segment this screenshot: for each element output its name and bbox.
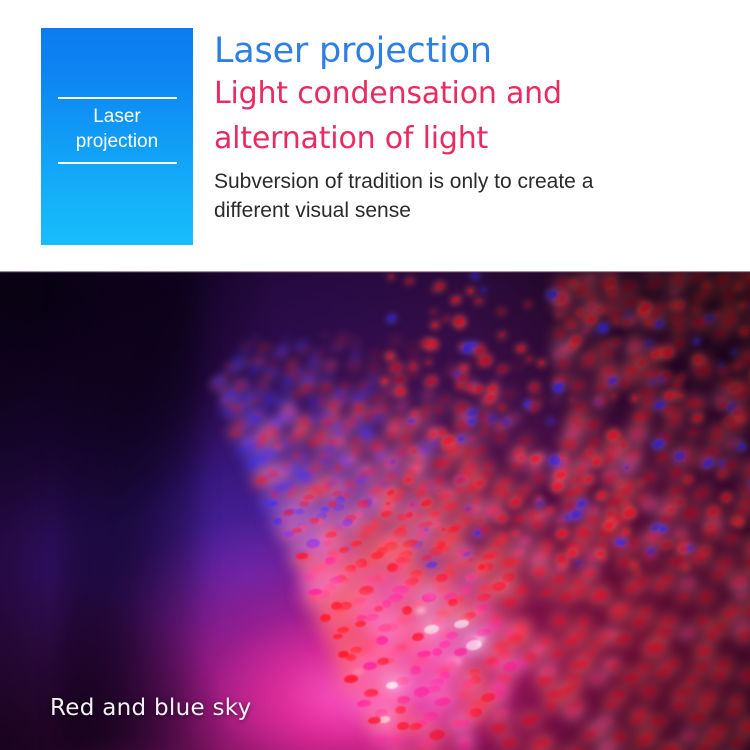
laser-dot — [720, 315, 738, 329]
laser-dot — [457, 558, 468, 568]
laser-dot — [325, 556, 337, 565]
laser-dot — [497, 364, 508, 373]
laser-dot — [481, 416, 494, 427]
laser-dot — [555, 471, 566, 480]
laser-dot — [538, 360, 544, 365]
laser-dot — [604, 701, 618, 711]
laser-dot — [482, 552, 495, 561]
laser-dot — [464, 572, 479, 583]
laser-dot — [570, 280, 577, 286]
laser-dot — [570, 379, 586, 392]
laser-dot — [389, 736, 403, 745]
laser-dot — [431, 309, 438, 315]
laser-dot — [423, 624, 439, 635]
laser-dot — [461, 678, 475, 690]
laser-dot — [268, 370, 277, 377]
laser-dot — [668, 555, 688, 569]
laser-dot — [312, 462, 321, 469]
laser-dot — [593, 395, 609, 408]
laser-dot — [614, 632, 632, 646]
laser-dot — [387, 489, 396, 497]
laser-dot — [534, 509, 548, 520]
laser-dot — [698, 645, 712, 657]
laser-dot — [355, 646, 372, 656]
laser-dot — [320, 477, 334, 488]
laser-dot — [556, 312, 562, 317]
laser-dot — [635, 569, 640, 573]
laser-dot — [458, 688, 472, 699]
laser-dot — [614, 488, 631, 500]
laser-dot — [600, 302, 614, 314]
laser-dot — [604, 468, 620, 481]
laser-dot — [454, 402, 469, 414]
laser-dot — [555, 378, 562, 384]
laser-dot — [281, 334, 290, 342]
photo-caption: Red and blue sky — [50, 694, 252, 722]
laser-dot — [386, 681, 399, 689]
laser-dot — [448, 598, 459, 607]
laser-dot — [442, 440, 452, 450]
laser-dot — [598, 714, 614, 728]
laser-dot — [228, 431, 235, 436]
laser-dot — [441, 503, 452, 511]
laser-dot — [561, 454, 566, 459]
laser-dot — [329, 401, 339, 410]
laser-dot — [294, 430, 305, 438]
laser-dot — [396, 640, 412, 650]
laser-dot — [338, 601, 353, 611]
laser-dot — [426, 340, 438, 350]
laser-dot — [482, 461, 494, 470]
laser-dot — [636, 414, 644, 421]
laser-dot — [388, 354, 394, 359]
laser-dot — [445, 655, 463, 667]
laser-dot — [315, 430, 327, 440]
laser-dot — [260, 453, 268, 460]
laser-dot — [743, 606, 750, 620]
laser-dot — [345, 600, 359, 608]
laser-dot — [574, 544, 588, 555]
laser-dot — [458, 470, 472, 481]
laser-dot — [527, 462, 541, 472]
laser-dot — [235, 381, 247, 389]
laser-dot — [645, 528, 665, 544]
laser-dot — [553, 286, 569, 299]
laser-dot — [428, 375, 439, 383]
laser-dot — [660, 347, 674, 360]
laser-dot — [238, 340, 249, 349]
laser-dot — [613, 533, 624, 543]
laser-dot — [344, 674, 359, 683]
laser-dot — [307, 438, 321, 447]
laser-dot — [513, 659, 527, 669]
laser-dot — [249, 358, 259, 365]
laser-dot — [584, 504, 600, 517]
laser-dot — [606, 495, 623, 509]
laser-dot — [335, 495, 346, 504]
laser-dot — [556, 515, 568, 525]
laser-dot — [371, 497, 381, 504]
laser-dot — [730, 736, 746, 748]
laser-dot — [466, 384, 474, 391]
laser-dot — [297, 471, 308, 480]
laser-dot — [539, 665, 557, 679]
laser-dot — [579, 325, 592, 336]
laser-dot — [255, 476, 266, 484]
laser-dot — [618, 556, 632, 568]
laser-dot — [604, 366, 618, 379]
laser-dot — [599, 364, 614, 377]
laser-dot — [454, 647, 468, 657]
laser-dot — [563, 315, 576, 327]
laser-dot — [451, 442, 463, 453]
laser-dot — [257, 477, 268, 483]
laser-dot — [384, 493, 399, 503]
laser-dot — [604, 521, 614, 530]
laser-dot — [283, 508, 294, 515]
laser-dot — [711, 669, 727, 682]
laser-dot — [389, 459, 396, 465]
laser-dot — [552, 345, 569, 359]
laser-dot — [469, 675, 482, 685]
laser-dot — [357, 381, 368, 390]
laser-dot — [293, 428, 305, 437]
laser-dot — [339, 491, 351, 500]
laser-dot — [288, 361, 296, 367]
laser-dot — [568, 343, 576, 349]
laser-dot — [630, 575, 650, 589]
laser-dot — [509, 498, 521, 508]
laser-dot — [401, 605, 412, 615]
laser-dot — [594, 540, 608, 550]
laser-dot — [329, 576, 344, 585]
laser-dot — [310, 567, 321, 576]
laser-dot — [258, 432, 268, 440]
laser-dot — [652, 439, 664, 449]
laser-dot — [231, 366, 239, 372]
laser-dot — [393, 584, 409, 594]
laser-dot — [354, 621, 365, 628]
laser-dot — [272, 484, 285, 493]
laser-dot — [729, 573, 750, 589]
laser-dot — [641, 684, 658, 698]
laser-dot — [552, 614, 566, 626]
laser-dot — [449, 523, 462, 532]
laser-dot — [600, 452, 618, 465]
laser-dot — [338, 546, 349, 554]
laser-dot — [475, 563, 487, 574]
laser-dot — [625, 312, 630, 317]
laser-dot — [342, 488, 353, 495]
laser-dot — [363, 607, 376, 616]
laser-dot — [722, 302, 737, 316]
laser-dot — [459, 741, 471, 750]
laser-dot — [436, 488, 441, 492]
laser-dot — [341, 382, 351, 390]
laser-dot — [490, 722, 508, 734]
laser-dot — [513, 490, 527, 500]
laser-dot — [401, 637, 416, 647]
laser-dot — [350, 447, 362, 457]
laser-dot — [656, 451, 670, 463]
laser-dot — [438, 629, 452, 640]
laser-dot — [607, 376, 617, 385]
laser-dot — [366, 488, 379, 497]
laser-dot — [233, 384, 244, 392]
laser-dot — [363, 661, 378, 670]
laser-dot — [415, 572, 427, 580]
laser-dot — [320, 385, 330, 393]
laser-dot — [318, 564, 327, 571]
laser-dot — [370, 350, 381, 360]
laser-dot — [472, 343, 478, 348]
laser-dot — [315, 512, 327, 521]
laser-dot — [233, 359, 245, 368]
laser-dot — [381, 657, 395, 665]
laser-dot — [405, 422, 416, 430]
laser-dot — [379, 715, 391, 723]
laser-dot — [591, 587, 609, 601]
laser-dot — [655, 320, 664, 328]
laser-dot — [609, 688, 627, 701]
laser-dot — [458, 546, 471, 555]
laser-dot — [610, 730, 627, 744]
laser-dot — [462, 459, 472, 467]
laser-dot — [263, 471, 277, 480]
laser-dot — [460, 414, 471, 422]
laser-dot — [288, 465, 298, 472]
laser-dot — [411, 632, 424, 642]
laser-dot — [714, 312, 720, 317]
laser-dot — [671, 337, 686, 350]
laser-dot — [467, 408, 478, 417]
laser-dot — [320, 419, 333, 428]
laser-dot — [316, 435, 326, 442]
laser-dot — [467, 418, 475, 425]
laser-dot — [612, 611, 626, 620]
laser-dot — [324, 532, 337, 540]
laser-dot — [251, 396, 260, 403]
laser-dot — [379, 541, 391, 550]
laser-dot-field-soft — [0, 272, 750, 750]
header-text-block: Laser projection Light condensation and … — [214, 30, 734, 225]
laser-dot — [237, 398, 247, 405]
laser-dot — [696, 742, 714, 750]
laser-dot — [483, 505, 501, 517]
laser-dot — [660, 540, 672, 550]
laser-dot — [333, 523, 345, 531]
laser-dot — [528, 402, 540, 412]
laser-dot — [279, 482, 293, 490]
laser-dot — [428, 729, 445, 741]
laser-dot — [377, 481, 390, 491]
laser-dot — [564, 635, 579, 647]
laser-dot — [329, 406, 337, 413]
laser-dot — [569, 659, 586, 670]
laser-dot — [537, 674, 553, 687]
laser-dot — [246, 443, 256, 451]
laser-dot — [641, 730, 655, 742]
laser-dot — [689, 272, 707, 283]
laser-dot — [360, 587, 373, 596]
laser-dot — [350, 595, 364, 603]
laser-dot — [258, 343, 268, 351]
laser-dot — [497, 513, 507, 521]
laser-dot — [478, 563, 487, 571]
laser-dot — [650, 344, 666, 357]
laser-dot — [285, 491, 295, 498]
laser-dot — [740, 720, 750, 734]
laser-dot — [317, 590, 330, 600]
laser-dot — [405, 367, 420, 379]
laser-dot — [560, 436, 577, 449]
laser-dot — [322, 539, 332, 547]
laser-dot — [614, 513, 628, 526]
laser-dot — [477, 519, 483, 524]
laser-dot — [355, 401, 364, 409]
laser-dot — [424, 647, 441, 660]
laser-dot — [469, 668, 481, 678]
laser-dot — [563, 487, 581, 500]
laser-dot — [731, 576, 748, 591]
laser-dot — [711, 424, 725, 436]
laser-dot — [532, 453, 545, 463]
laser-dot — [408, 722, 422, 731]
laser-dot — [587, 437, 601, 448]
laser-dot — [491, 640, 510, 652]
laser-dot — [577, 617, 590, 628]
laser-dot — [333, 430, 344, 437]
laser-dot — [581, 312, 594, 323]
laser-dot — [259, 407, 266, 413]
laser-dot — [705, 506, 724, 521]
laser-dot — [389, 424, 401, 434]
laser-dot — [468, 557, 474, 562]
photo-shadow-streak — [60, 272, 200, 750]
laser-dot — [454, 475, 467, 486]
laser-dot — [266, 421, 278, 430]
laser-dot — [414, 531, 429, 541]
laser-dot — [442, 695, 454, 703]
laser-dot — [604, 272, 619, 279]
laser-dot — [449, 449, 460, 457]
laser-dot — [258, 348, 265, 353]
laser-dot — [732, 349, 737, 354]
laser-dot — [438, 671, 450, 681]
laser-dot — [592, 590, 609, 602]
laser-dot — [221, 396, 232, 404]
laser-dot — [370, 632, 381, 639]
laser-dot — [576, 500, 586, 509]
laser-dot — [329, 553, 344, 563]
laser-dot — [308, 398, 321, 407]
laser-dot — [652, 523, 662, 531]
laser-dot — [566, 442, 576, 450]
laser-dot — [488, 687, 507, 700]
laser-dot — [282, 390, 290, 397]
laser-dot — [565, 705, 581, 719]
laser-dot — [295, 508, 305, 515]
laser-dot — [698, 285, 713, 298]
laser-dot — [624, 502, 631, 507]
laser-dot — [586, 292, 599, 304]
laser-dot — [420, 404, 433, 414]
laser-dot — [499, 332, 506, 338]
laser-dot — [666, 405, 682, 420]
laser-dot — [735, 590, 749, 601]
laser-dot — [675, 498, 685, 506]
laser-dot — [727, 418, 742, 432]
laser-dot — [299, 423, 308, 429]
laser-dot — [484, 550, 500, 562]
laser-dot — [495, 432, 507, 442]
page-title: Laser projection — [214, 30, 734, 73]
laser-dot — [377, 657, 389, 665]
laser-dot — [279, 379, 289, 386]
laser-dot — [574, 464, 586, 475]
laser-dot — [477, 410, 490, 420]
laser-dot — [296, 340, 308, 349]
laser-dot — [284, 530, 295, 537]
laser-dot — [481, 692, 497, 703]
laser-dot — [291, 343, 299, 349]
laser-dot — [413, 686, 429, 698]
laser-dot — [250, 456, 260, 463]
laser-dot — [734, 283, 743, 290]
laser-dot — [248, 413, 258, 421]
laser-dot — [546, 689, 563, 702]
laser-dot — [436, 541, 447, 551]
laser-dot — [221, 373, 230, 378]
laser-dot — [333, 633, 344, 640]
laser-dot — [718, 365, 730, 375]
laser-dot — [281, 440, 290, 446]
laser-dot — [382, 459, 397, 471]
laser-dot — [331, 341, 341, 350]
laser-dot — [571, 587, 587, 599]
laser-dot — [531, 472, 544, 484]
laser-dot — [397, 488, 406, 495]
laser-dot — [692, 306, 700, 313]
laser-dot — [263, 374, 272, 381]
laser-dot — [568, 549, 577, 557]
laser-dot — [306, 415, 318, 423]
laser-dot — [293, 453, 303, 461]
laser-dot — [296, 345, 305, 353]
laser-dot — [238, 448, 248, 454]
laser-dot — [384, 540, 399, 551]
laser-dot — [259, 383, 268, 389]
laser-dot — [608, 308, 624, 321]
laser-dot — [554, 294, 568, 307]
laser-dot — [647, 547, 656, 555]
laser-dot — [739, 496, 750, 509]
laser-dot — [697, 614, 712, 627]
laser-dot — [344, 514, 357, 523]
laser-dot — [286, 436, 297, 442]
laser-dot — [611, 606, 623, 615]
laser-projection-photo — [0, 272, 750, 750]
laser-dot — [558, 461, 564, 466]
laser-dot — [471, 697, 488, 709]
laser-dot — [585, 419, 601, 432]
laser-dot — [334, 464, 344, 472]
laser-dot — [647, 318, 662, 330]
laser-dot — [444, 533, 460, 546]
laser-dot — [251, 394, 261, 400]
laser-dot — [623, 452, 640, 466]
laser-dot — [233, 429, 242, 436]
